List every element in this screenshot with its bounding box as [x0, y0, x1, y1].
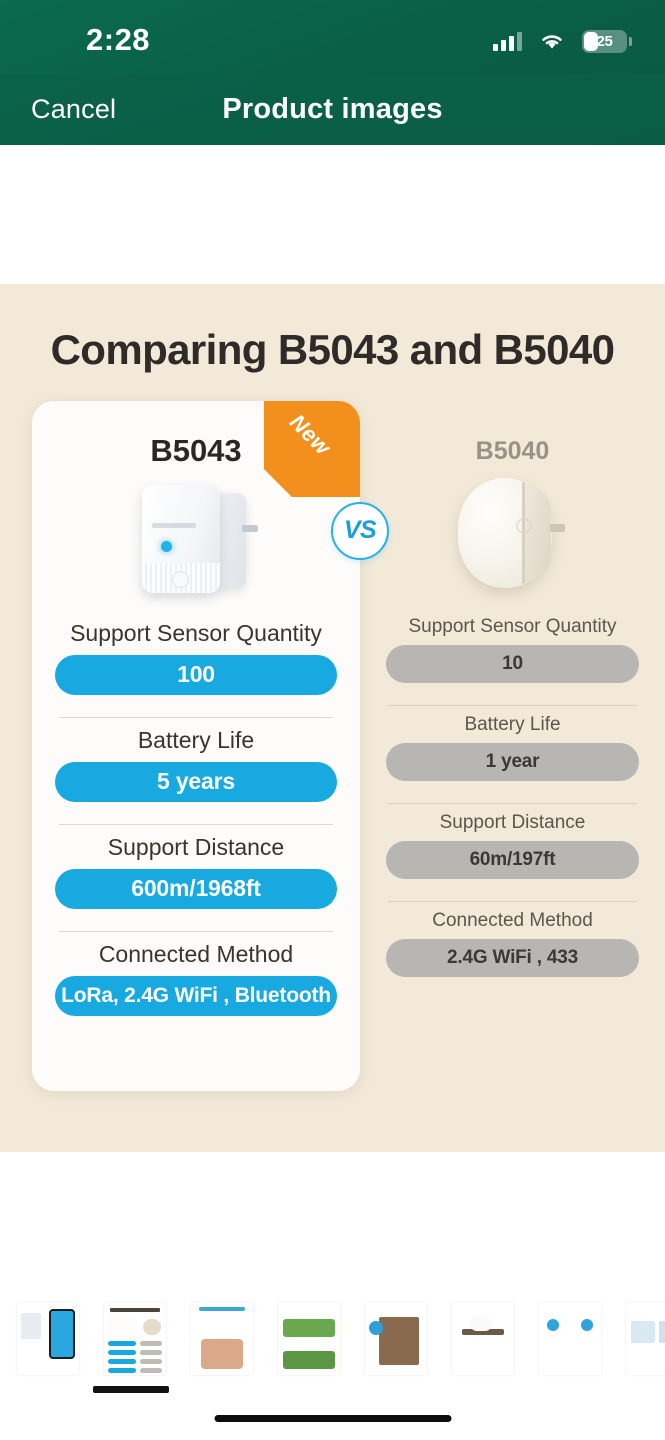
- thumbnail-image: [104, 1303, 166, 1375]
- thumbnail-app-and-sensors[interactable]: [8, 1302, 87, 1376]
- spec-value-pill: 10: [386, 645, 639, 683]
- spec-label: Support Distance: [386, 804, 639, 841]
- thumbnail-image: [365, 1303, 427, 1375]
- poster-title: Comparing B5043 and B5040: [0, 284, 665, 374]
- thumbnail-image: [452, 1303, 514, 1375]
- spec-list-b5043: Support Sensor Quantity 100 Battery Life…: [32, 597, 360, 1016]
- product-name-b5040: B5040: [360, 401, 665, 466]
- spec-row: Support Sensor Quantity 100: [55, 611, 337, 695]
- thumbnail-strip[interactable]: [0, 1298, 665, 1380]
- thumbnail-ip66-waterproof-durable[interactable]: [530, 1302, 609, 1376]
- thumbnail-image: [17, 1303, 79, 1375]
- plug-in-repeater-rectangular-icon: [132, 479, 260, 599]
- spec-value-pill: 2.4G WiFi , 433: [386, 939, 639, 977]
- thumbnail-image: [191, 1303, 253, 1375]
- comparison-area: VS New B5043: [0, 401, 665, 1091]
- thumbnail-protect-your-home[interactable]: [182, 1302, 261, 1376]
- status-bar-icons: 25: [493, 30, 627, 53]
- spec-value-pill: 60m/197ft: [386, 841, 639, 879]
- thumbnail-extend-coverage-building[interactable]: [356, 1302, 435, 1376]
- spec-row: Support Distance 600m/1968ft: [55, 825, 337, 909]
- spec-label: Support Distance: [55, 825, 337, 869]
- cancel-button[interactable]: Cancel: [31, 94, 116, 125]
- spec-value-pill: LoRa, 2.4G WiFi , Bluetooth: [55, 976, 337, 1016]
- thumbnail-comparison-b5043-b5040[interactable]: [95, 1302, 174, 1376]
- thumbnail-image: [626, 1303, 665, 1375]
- product-image-wrap-b5040: [360, 466, 665, 594]
- thumbnail-connecting-multiple-devices[interactable]: [617, 1302, 665, 1376]
- thumbnail-outdoor-sensor-range[interactable]: [269, 1302, 348, 1376]
- spec-value-pill: 600m/1968ft: [55, 869, 337, 909]
- spec-label: Connected Method: [386, 902, 639, 939]
- spec-row: Battery Life 1 year: [386, 706, 639, 781]
- status-bar: 2:28 25: [0, 0, 665, 74]
- thumbnail-image: [278, 1303, 340, 1375]
- spec-row: Battery Life 5 years: [55, 718, 337, 802]
- spec-row: Support Distance 60m/197ft: [386, 804, 639, 879]
- comparison-poster-image: Comparing B5043 and B5040 VS New B5043: [0, 284, 665, 1152]
- battery-level-text: 25: [596, 33, 612, 50]
- vs-badge: VS: [331, 502, 389, 560]
- selected-thumbnail-indicator: [93, 1386, 169, 1393]
- thumbnail-image: [539, 1303, 601, 1375]
- wifi-icon: [539, 31, 565, 51]
- spec-label: Connected Method: [55, 932, 337, 976]
- home-indicator: [214, 1415, 451, 1422]
- spec-label: Battery Life: [55, 718, 337, 762]
- spec-list-b5040: Support Sensor Quantity 10 Battery Life …: [360, 594, 665, 977]
- plug-in-repeater-oval-icon: [452, 474, 574, 594]
- nav-bar: Cancel Product images: [0, 74, 665, 145]
- image-viewer[interactable]: Comparing B5043 and B5040 VS New B5043: [0, 145, 665, 1290]
- status-bar-clock: 2:28: [86, 22, 150, 58]
- spec-row: Support Sensor Quantity 10: [386, 608, 639, 683]
- spec-value-pill: 100: [55, 655, 337, 695]
- spec-label: Support Sensor Quantity: [386, 608, 639, 645]
- spec-value-pill: 1 year: [386, 743, 639, 781]
- signal-bars-icon: [493, 31, 522, 51]
- product-card-b5043: New B5043 Support: [32, 401, 360, 1091]
- thumbnail-water-leak-alerts[interactable]: [443, 1302, 522, 1376]
- spec-label: Support Sensor Quantity: [55, 611, 337, 655]
- spec-row: Connected Method 2.4G WiFi , 433: [386, 902, 639, 977]
- product-card-b5040: B5040 Support Sensor Quantity 10: [360, 401, 665, 1091]
- product-image-wrap-b5043: [32, 469, 360, 597]
- spec-row: Connected Method LoRa, 2.4G WiFi , Bluet…: [55, 932, 337, 1016]
- spec-value-pill: 5 years: [55, 762, 337, 802]
- battery-icon: 25: [582, 30, 627, 53]
- product-name-b5043: B5043: [32, 401, 360, 469]
- spec-label: Battery Life: [386, 706, 639, 743]
